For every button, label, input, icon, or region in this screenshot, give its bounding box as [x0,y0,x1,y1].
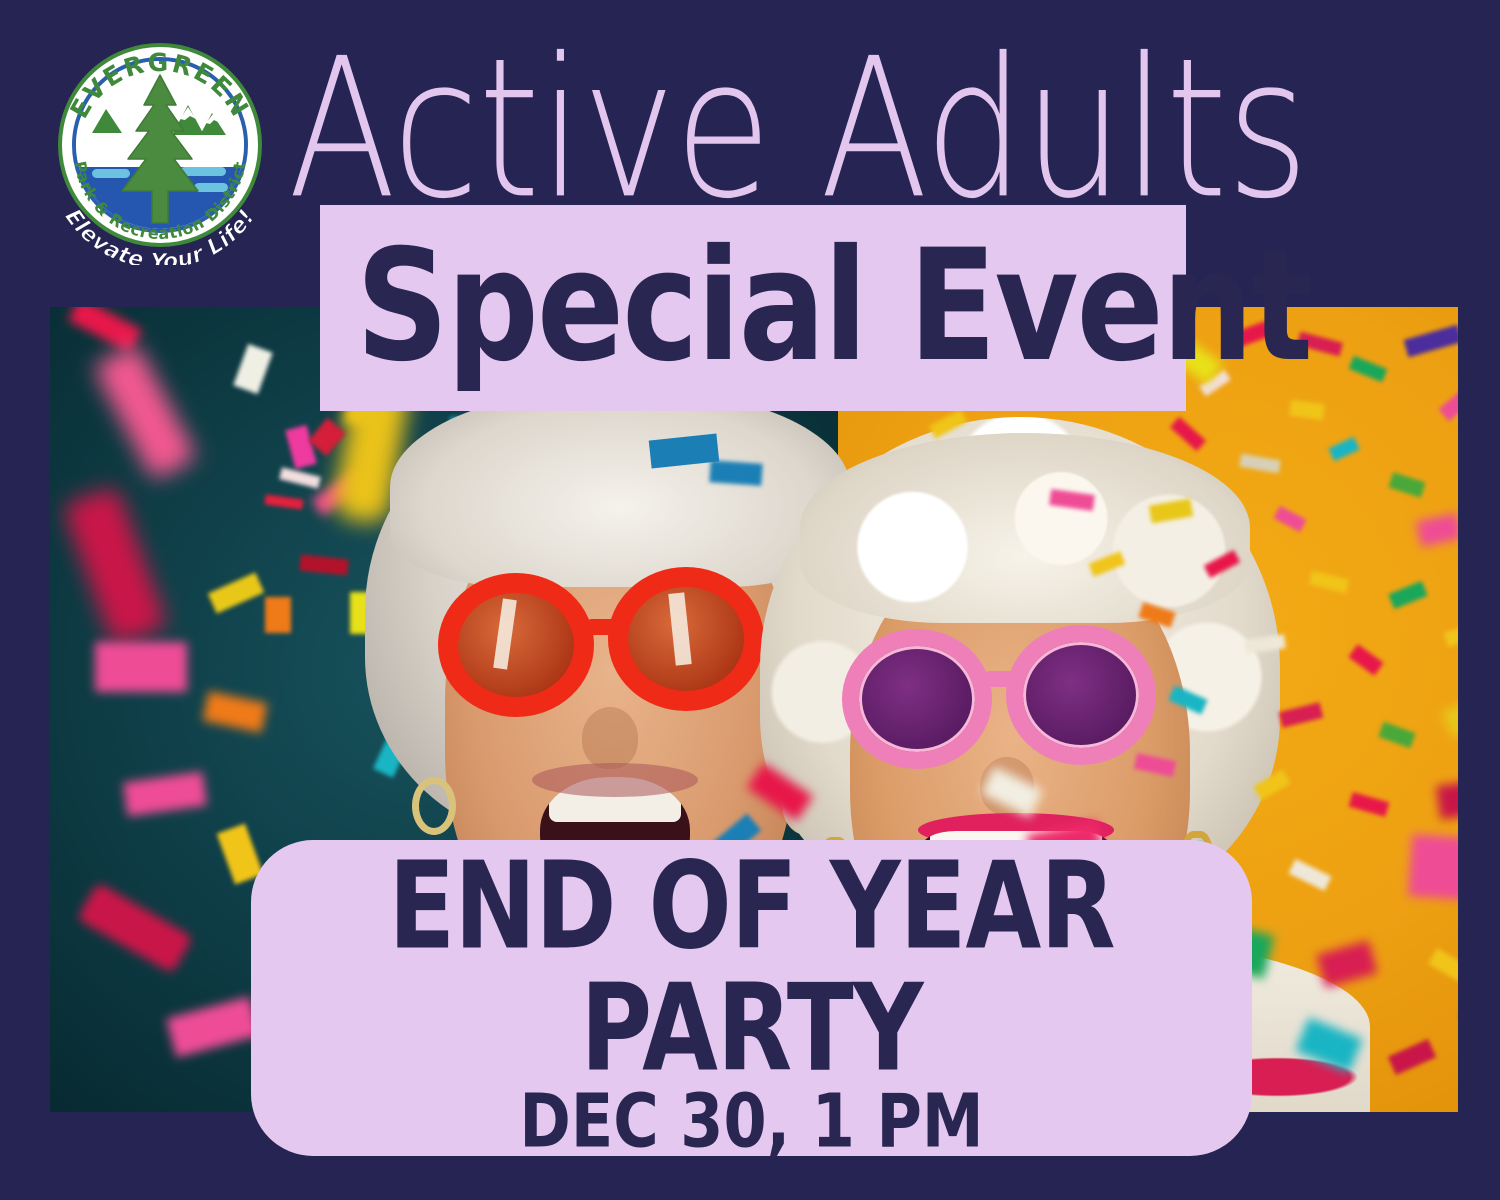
person-right-sunglasses-right-lens [1006,625,1156,765]
event-date-time: DEC 30, 1 PM [251,1084,1252,1158]
person-right-sunglasses-bridge [982,671,1022,687]
person-left-sunglasses-bridge [584,619,624,635]
person-left-earring-left [412,777,456,835]
special-event-banner-label: Special Event [356,229,1311,383]
event-title-line-1: END OF YEAR [241,846,1262,966]
poster-canvas: EVERGREEN Park & Recreation District Ele… [0,0,1500,1200]
organization-logo: EVERGREEN Park & Recreation District Ele… [50,35,270,265]
person-right-sunglasses-left-lens [842,629,992,769]
person-right-fringe [800,433,1250,623]
person-left-upper-lip [532,763,698,797]
logo-tagline: Elevate Your Life! [50,35,270,265]
person-left-sunglasses-left-lens [438,573,594,717]
event-title-line-2: PARTY [241,968,1262,1088]
logo-tagline-label: Elevate Your Life! [60,205,261,265]
page-title: Active Adults [288,38,1298,221]
event-details-card: END OF YEAR PARTY DEC 30, 1 PM [251,840,1252,1156]
special-event-banner: Special Event [320,205,1186,411]
svg-text:Elevate Your Life!: Elevate Your Life! [60,205,261,265]
